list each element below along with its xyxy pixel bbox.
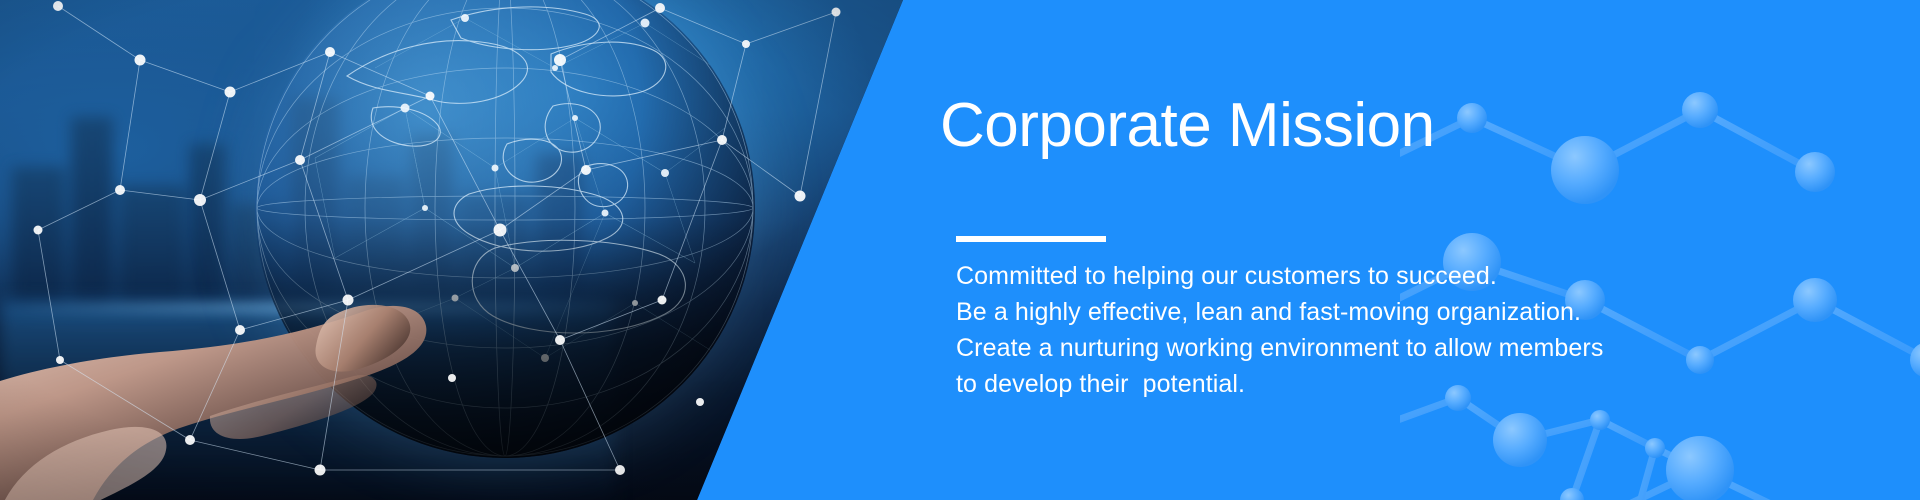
mission-line: Committed to helping our customers to su… <box>956 258 1736 294</box>
corporate-mission-banner: Corporate Mission Committed to helping o… <box>0 0 1920 500</box>
page-title: Corporate Mission <box>940 95 1435 157</box>
mission-line: Create a nurturing working environment t… <box>956 330 1736 366</box>
title-divider <box>956 236 1106 242</box>
mission-line: Be a highly effective, lean and fast-mov… <box>956 294 1736 330</box>
mission-statement: Committed to helping our customers to su… <box>956 258 1736 402</box>
mission-line: to develop their potential. <box>956 366 1736 402</box>
banner-content: Corporate Mission Committed to helping o… <box>940 0 1840 500</box>
